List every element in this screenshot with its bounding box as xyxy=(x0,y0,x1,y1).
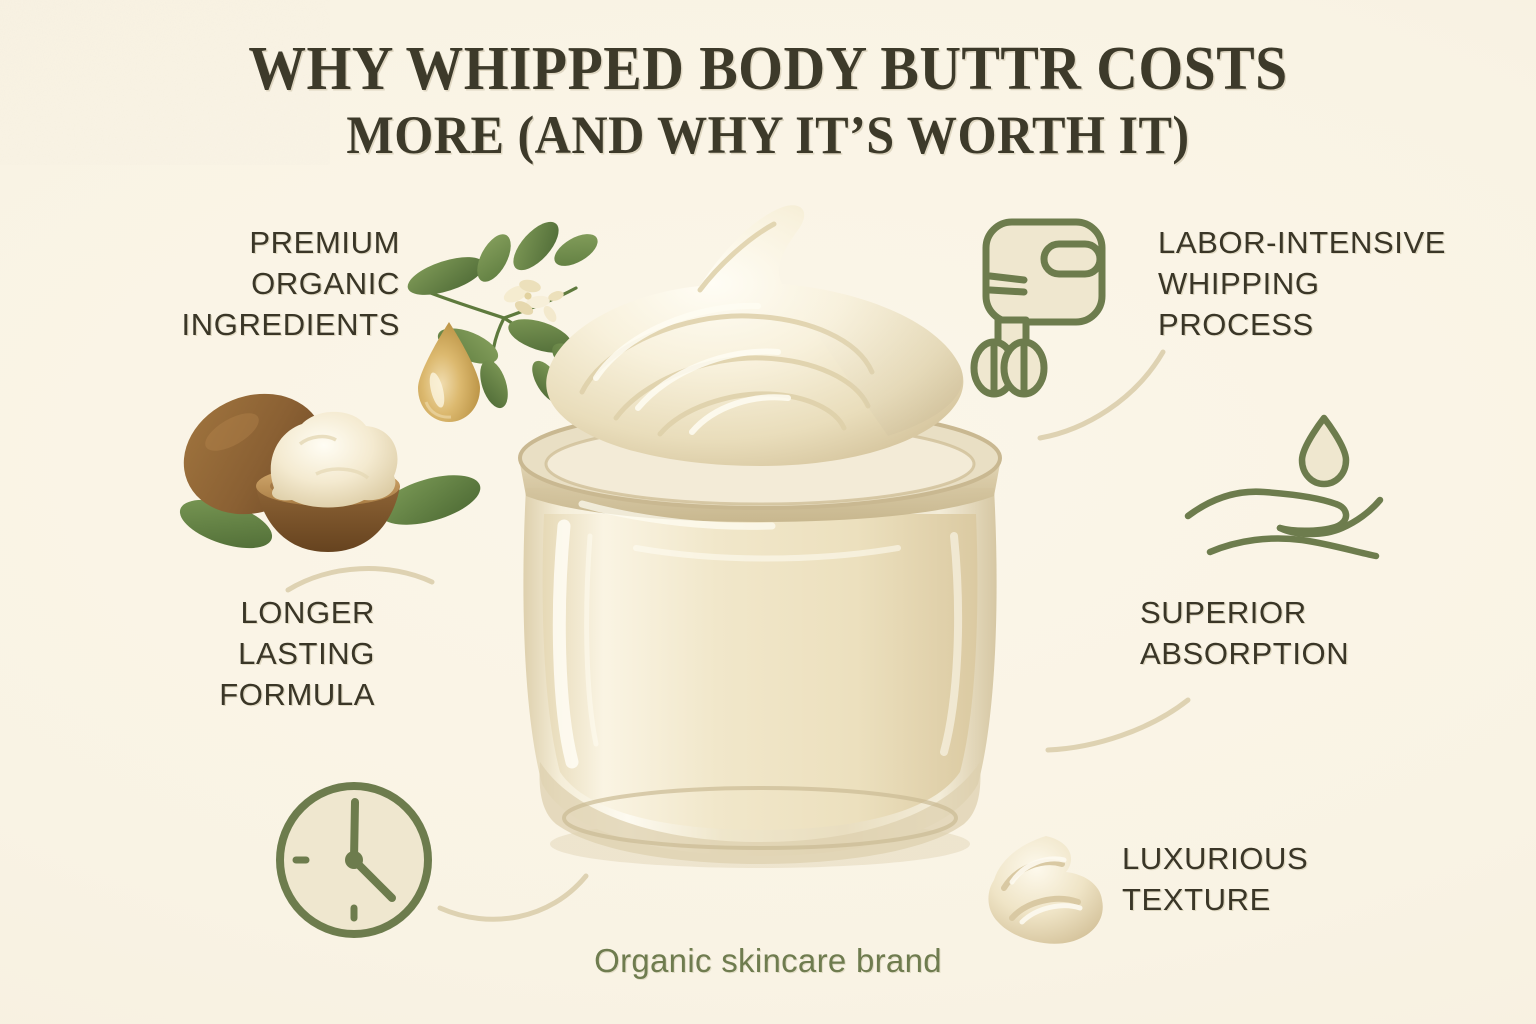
hand-with-droplet-icon xyxy=(1184,412,1384,558)
shea-butter-blob xyxy=(271,412,398,508)
connector-arc-top-right xyxy=(1040,352,1163,438)
leaf xyxy=(174,490,278,558)
leaf xyxy=(374,465,486,534)
droplet-shape xyxy=(418,322,480,422)
clock-face xyxy=(280,786,428,934)
jar-neck xyxy=(520,434,1000,522)
connector-arc-mid-right xyxy=(1048,700,1188,750)
clock-minute-hand xyxy=(354,802,355,860)
hand-mixer-icon xyxy=(962,208,1114,394)
leaf xyxy=(546,337,602,388)
whole-nut xyxy=(166,373,343,534)
cream-swirl-icon xyxy=(980,832,1112,956)
jar-highlight-right xyxy=(944,536,958,752)
mixer-vent xyxy=(990,290,1024,292)
brand-tagline: Organic skincare brand xyxy=(0,942,1536,980)
whipped-butter-jar-art xyxy=(486,196,1034,896)
leaf xyxy=(506,214,567,277)
mixer-shaft xyxy=(998,320,1026,352)
title-line-2: MORE (AND WHY IT’S WORTH IT) xyxy=(54,108,1482,162)
hand-lower-edge xyxy=(1210,539,1376,557)
fingers xyxy=(1280,500,1380,534)
mixer-beater xyxy=(974,342,1014,394)
mixer-body xyxy=(986,222,1102,322)
connector-arc-bottom xyxy=(440,876,586,919)
leaf xyxy=(470,229,517,287)
mixer-vent xyxy=(990,276,1024,280)
label-luxurious-texture: LUXURIOUS TEXTURE xyxy=(1122,838,1372,920)
swirl-shape xyxy=(988,836,1102,944)
droplet-shape xyxy=(1302,418,1346,484)
shea-nut-art xyxy=(168,382,488,567)
label-superior-absorption: SUPERIOR ABSORPTION xyxy=(1140,592,1470,674)
mixer-handle xyxy=(1044,244,1100,274)
leaf xyxy=(549,228,603,273)
clock-hour-hand xyxy=(354,860,392,898)
label-labor-intensive-whipping-process: LABOR-INTENSIVE WHIPPING PROCESS xyxy=(1158,222,1503,346)
connector-arc-mid-left xyxy=(288,569,432,590)
leaf xyxy=(475,357,513,412)
jar-glass-body xyxy=(523,488,996,856)
jar-rim-top xyxy=(520,408,1000,508)
whipped-cream-swirl xyxy=(546,205,963,466)
label-premium-organic-ingredients: PREMIUM ORGANIC INGREDIENTS xyxy=(110,222,400,346)
shell-bowl xyxy=(256,486,400,552)
clock-center xyxy=(345,851,363,869)
title-line-1: WHY WHIPPED BODY BUTTR COSTS xyxy=(54,38,1482,100)
oil-droplet-art xyxy=(412,318,486,428)
flower-cluster xyxy=(501,278,565,324)
leaf xyxy=(504,312,575,359)
page-title: WHY WHIPPED BODY BUTTR COSTS MORE (AND W… xyxy=(0,38,1536,162)
leaf xyxy=(433,321,503,371)
infographic-canvas: WHY WHIPPED BODY BUTTR COSTS MORE (AND W… xyxy=(0,0,1536,1024)
jar-cream-fill xyxy=(543,514,978,830)
mixer-beater xyxy=(1004,342,1044,394)
clock-icon xyxy=(272,778,436,942)
leaf xyxy=(526,356,570,408)
botanical-sprig-art xyxy=(398,206,608,406)
open-palm xyxy=(1188,492,1346,531)
leaf xyxy=(403,249,488,302)
jar-highlight-left xyxy=(559,526,572,762)
label-longer-lasting-formula: LONGER LASTING FORMULA xyxy=(120,592,375,716)
